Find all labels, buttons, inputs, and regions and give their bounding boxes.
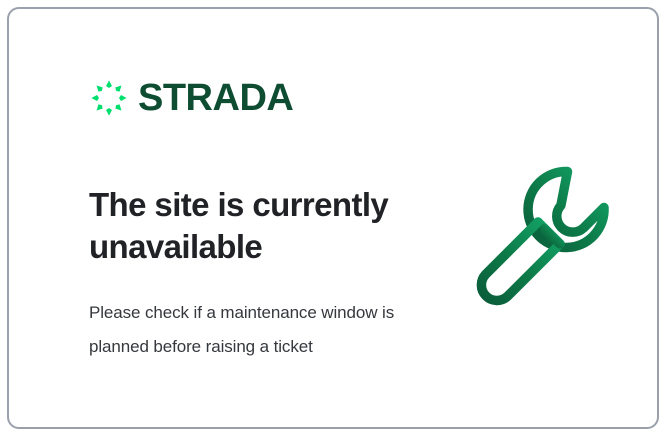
page-card-frame: STRADA The site is currently unavailable… xyxy=(7,7,659,429)
page-title: The site is currently unavailable xyxy=(89,184,449,268)
page-description: Please check if a maintenance window is … xyxy=(89,296,419,364)
page-content: STRADA The site is currently unavailable… xyxy=(9,9,657,427)
brand-logo: STRADA xyxy=(89,78,293,118)
error-page: STRADA The site is currently unavailable… xyxy=(0,0,666,436)
wrench-icon xyxy=(464,159,624,319)
brand-wordmark: STRADA xyxy=(138,79,293,117)
strada-asterisk-icon xyxy=(89,78,129,118)
